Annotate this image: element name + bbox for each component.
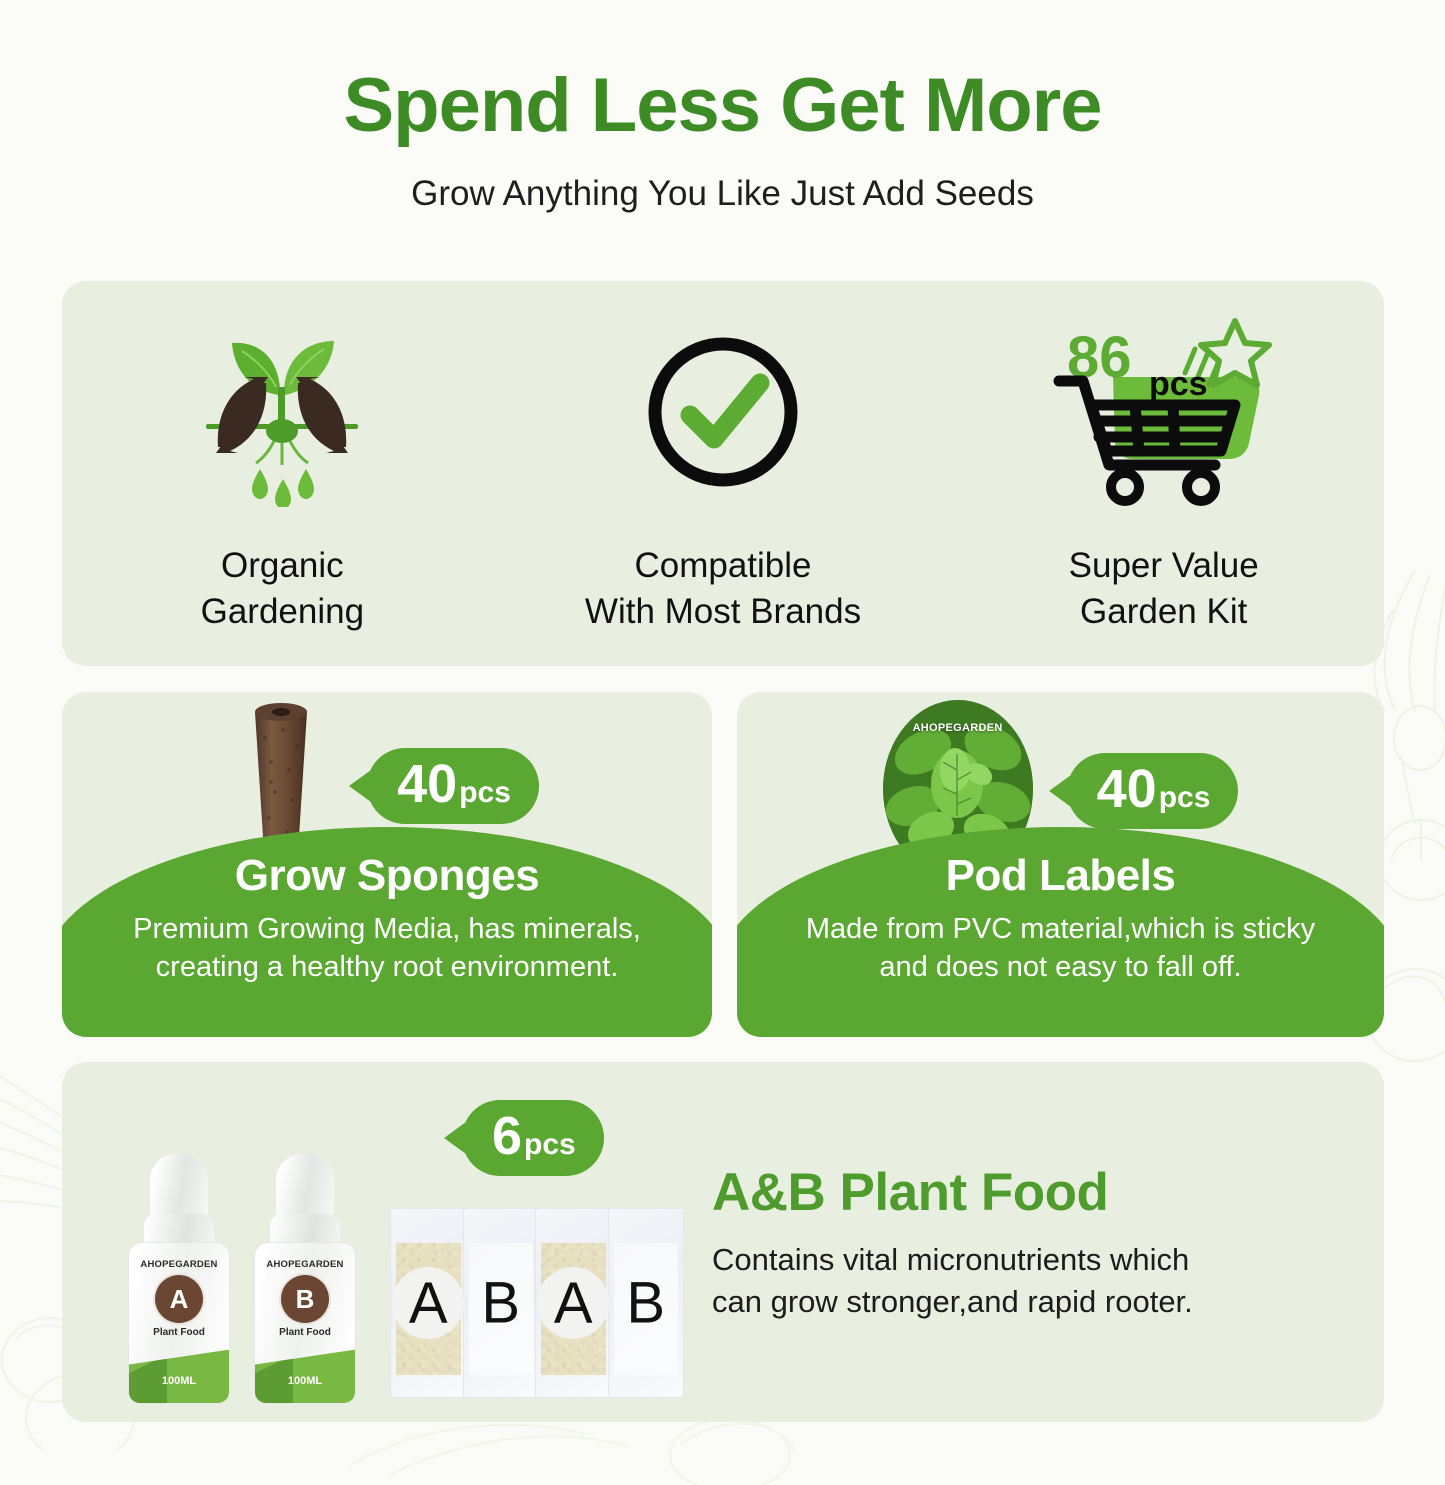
desc-line1: Contains vital micronutrients which bbox=[712, 1242, 1189, 1277]
bottle-body: AHOPEGARDEN A Plant Food 100ML bbox=[128, 1242, 230, 1404]
bottle-green-band bbox=[129, 1341, 229, 1403]
desc-line1: Made from PVC material,which is sticky bbox=[806, 913, 1315, 945]
feature-organic-gardening-label: Organic Gardening bbox=[201, 543, 364, 634]
count-number: 40 bbox=[1097, 762, 1157, 816]
bottle-brand: AHOPEGARDEN bbox=[255, 1259, 355, 1270]
plant-food-card: AHOPEGARDEN A Plant Food 100ML AHOPEGARD… bbox=[62, 1062, 1384, 1422]
bottle-brand: AHOPEGARDEN bbox=[129, 1259, 229, 1270]
grow-sponges-desc: Premium Growing Media, has minerals, cre… bbox=[62, 911, 712, 986]
grow-sponges-card: 40 pcs Grow Sponges Premium Growing Medi… bbox=[62, 692, 712, 1037]
sachet-letter: A bbox=[537, 1267, 609, 1339]
desc-line2: can grow stronger,and rapid rooter. bbox=[712, 1284, 1193, 1319]
plant-food-visual: AHOPEGARDEN A Plant Food 100ML AHOPEGARD… bbox=[62, 1062, 702, 1422]
bottle-b: AHOPEGARDEN B Plant Food 100ML bbox=[250, 1154, 360, 1404]
bottle-green-band bbox=[255, 1341, 355, 1403]
sachet-a2: A bbox=[535, 1208, 612, 1398]
sachet-group: A B A B bbox=[390, 1208, 680, 1398]
bottle-badge-b: B bbox=[284, 1278, 326, 1320]
bottle-badge-a: A bbox=[158, 1278, 200, 1320]
page-title: Spend Less Get More bbox=[0, 66, 1445, 146]
feature-label-line2: With Most Brands bbox=[585, 592, 861, 631]
plant-food-count-bubble: 6 pcs bbox=[462, 1100, 604, 1176]
feature-label-line1: Compatible bbox=[634, 546, 811, 585]
feature-label-line2: Gardening bbox=[201, 592, 364, 631]
check-circle-icon bbox=[638, 317, 808, 507]
desc-line2: creating a healthy root environment. bbox=[156, 951, 619, 983]
feature-compatible: Compatible With Most Brands bbox=[503, 281, 944, 666]
sachet-letter: A bbox=[392, 1267, 464, 1339]
grow-sponges-dome: Grow Sponges Premium Growing Media, has … bbox=[62, 827, 712, 1037]
bottle-label: Plant Food bbox=[129, 1327, 229, 1338]
sachet-a1: A bbox=[390, 1208, 467, 1398]
page-subtitle: Grow Anything You Like Just Add Seeds bbox=[0, 174, 1445, 214]
cart-badge-unit: pcs bbox=[1149, 365, 1208, 403]
sachet-b2: B bbox=[608, 1208, 685, 1398]
pod-labels-count-bubble: 40 pcs bbox=[1067, 753, 1239, 829]
sachet-b1: B bbox=[463, 1208, 540, 1398]
sprout-recycle-icon bbox=[182, 317, 382, 507]
bottle-label: Plant Food bbox=[255, 1327, 355, 1338]
desc-line1: Premium Growing Media, has minerals, bbox=[133, 913, 641, 945]
sachet-letter: B bbox=[626, 1270, 665, 1337]
count-unit: pcs bbox=[524, 1130, 576, 1160]
feature-organic-gardening: Organic Gardening bbox=[62, 281, 503, 666]
features-card: Organic Gardening Compatible With Most B… bbox=[62, 281, 1384, 666]
shopping-cart-icon: 86 pcs bbox=[1049, 317, 1279, 507]
pod-labels-title: Pod Labels bbox=[737, 851, 1384, 901]
grow-sponges-title: Grow Sponges bbox=[62, 851, 712, 901]
count-number: 6 bbox=[492, 1109, 522, 1163]
feature-label-line1: Organic bbox=[221, 546, 344, 585]
grow-sponges-count-bubble: 40 pcs bbox=[367, 748, 539, 824]
feature-label-line2: Garden Kit bbox=[1080, 592, 1247, 631]
bottle-body: AHOPEGARDEN B Plant Food 100ML bbox=[254, 1242, 356, 1404]
count-unit: pcs bbox=[1159, 783, 1211, 813]
bottle-a: AHOPEGARDEN A Plant Food 100ML bbox=[124, 1154, 234, 1404]
pod-labels-dome: Pod Labels Made from PVC material,which … bbox=[737, 827, 1384, 1037]
pod-labels-card: AHOPEGARDEN 40 pcs Pod Labels Made from … bbox=[737, 692, 1384, 1037]
plant-food-desc: Contains vital micronutrients which can … bbox=[712, 1239, 1344, 1323]
pod-labels-desc: Made from PVC material,which is sticky a… bbox=[737, 911, 1384, 986]
plant-food-text: A&B Plant Food Contains vital micronutri… bbox=[702, 1162, 1384, 1323]
bottle-volume: 100ML bbox=[255, 1375, 355, 1387]
desc-line2: and does not easy to fall off. bbox=[879, 951, 1241, 983]
photo-brand-label: AHOPEGARDEN bbox=[883, 722, 1033, 734]
bottle-cap bbox=[276, 1154, 334, 1220]
count-number: 40 bbox=[397, 757, 457, 811]
feature-super-value-label: Super Value Garden Kit bbox=[1069, 543, 1259, 634]
bottle-volume: 100ML bbox=[129, 1375, 229, 1387]
bottle-cap bbox=[150, 1154, 208, 1220]
feature-compatible-label: Compatible With Most Brands bbox=[585, 543, 861, 634]
sachet-letter: B bbox=[481, 1270, 520, 1337]
header: Spend Less Get More Grow Anything You Li… bbox=[0, 0, 1445, 214]
plant-food-title: A&B Plant Food bbox=[712, 1162, 1344, 1223]
count-unit: pcs bbox=[459, 778, 511, 808]
feature-super-value: 86 pcs Super Value Garden Kit bbox=[943, 281, 1384, 666]
feature-label-line1: Super Value bbox=[1069, 546, 1259, 585]
